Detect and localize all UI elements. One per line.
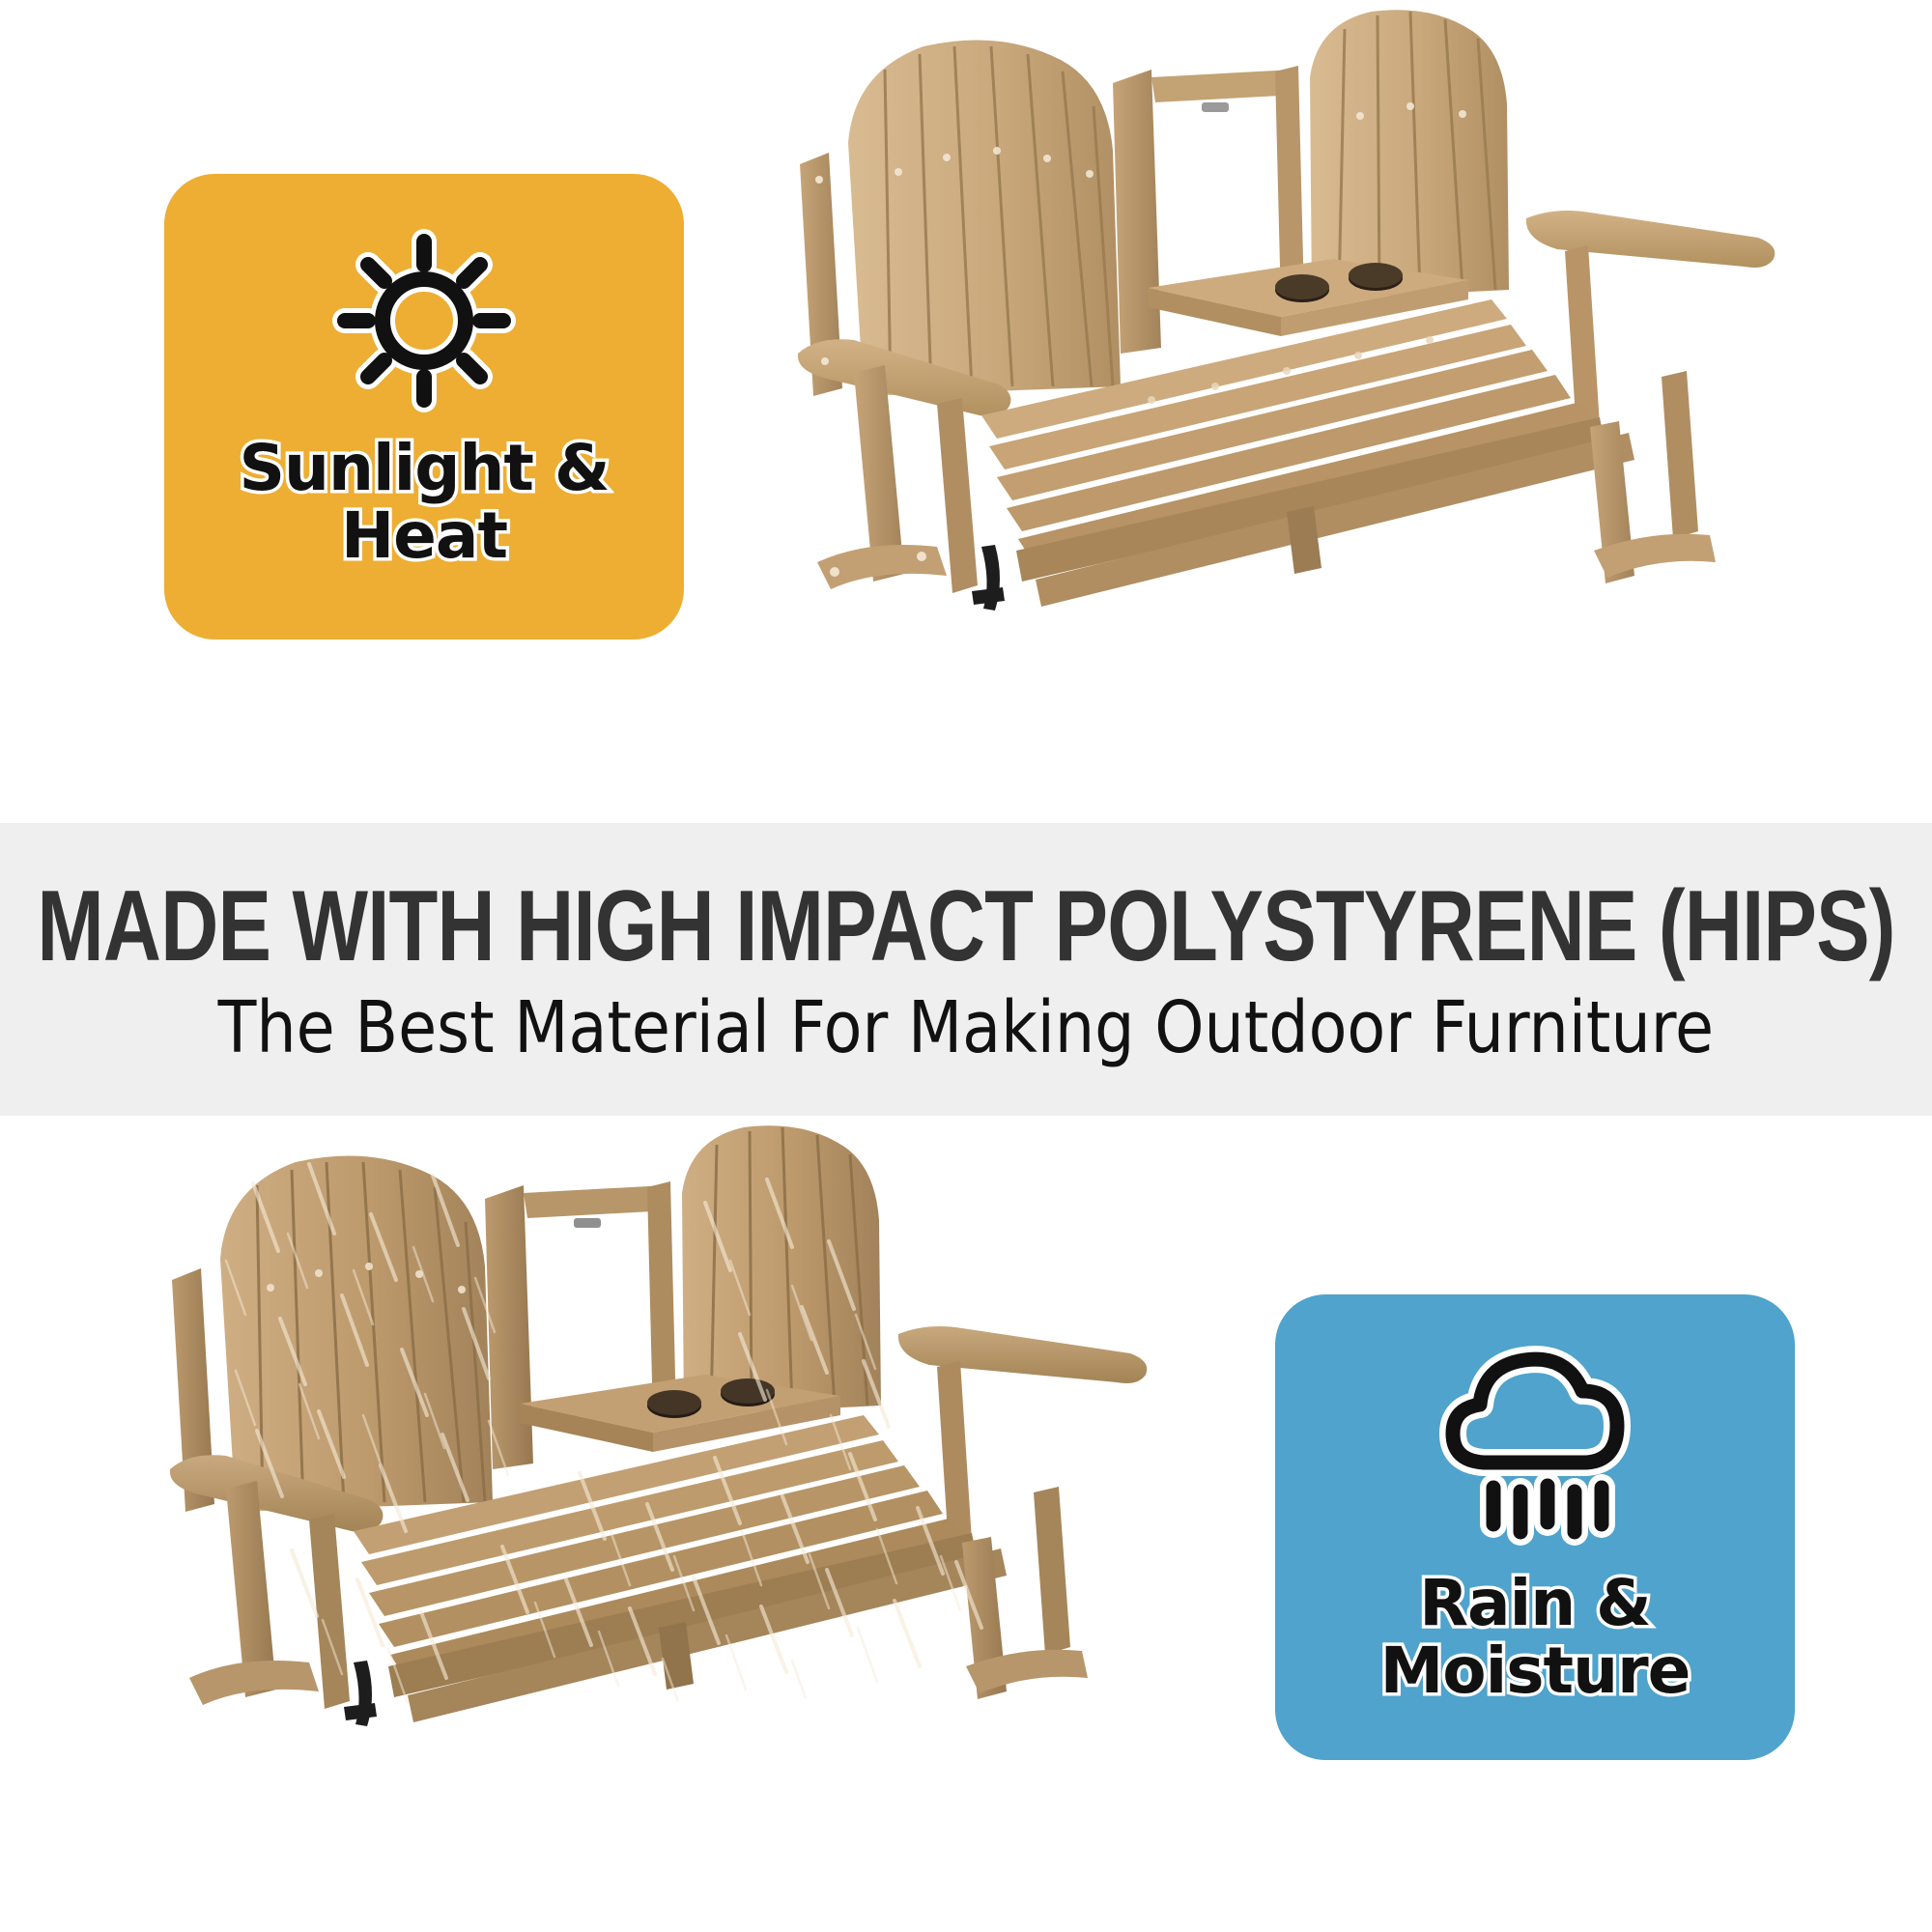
backrest-left	[848, 41, 1121, 396]
backrest-right	[682, 1125, 881, 1415]
product-image-glider-bench-dry	[792, 10, 1913, 628]
bottom-product-section: Rain & Moisture	[0, 1116, 1932, 1932]
top-product-section: Sunlight & Heat	[0, 0, 1932, 823]
armrest-right	[1526, 211, 1775, 268]
badge-rain-moisture-line2: Moisture	[1380, 1637, 1690, 1705]
backrest-right	[1310, 10, 1509, 299]
product-image-glider-bench-rain	[164, 1125, 1285, 1744]
badge-rain-moisture-line1: Rain &	[1419, 1566, 1651, 1640]
badge-rain-moisture-label: Rain & Moisture	[1380, 1570, 1690, 1705]
badge-rain-moisture: Rain & Moisture	[1275, 1294, 1795, 1760]
feature-banner: MADE WITH HIGH IMPACT POLYSTYRENE (HIPS)…	[0, 823, 1932, 1116]
badge-sunlight-heat-line1: Sunlight &	[239, 431, 609, 505]
glider-bench-rain-illustration	[164, 1125, 1285, 1744]
glider-base-right	[962, 1487, 1088, 1699]
banner-subtitle: The Best Material For Making Outdoor Fur…	[218, 992, 1715, 1064]
banner-headline: MADE WITH HIGH IMPACT POLYSTYRENE (HIPS)	[37, 876, 1894, 977]
glider-base-right	[1590, 371, 1716, 583]
glider-bench-illustration	[792, 10, 1913, 628]
badge-sunlight-heat-label: Sunlight & Heat	[239, 435, 609, 570]
badge-sunlight-heat-line2: Heat	[239, 502, 609, 570]
sun-icon	[313, 224, 535, 417]
rain-cloud-icon	[1424, 1345, 1646, 1552]
armrest-right	[898, 1326, 1147, 1383]
badge-sunlight-heat: Sunlight & Heat	[164, 174, 684, 639]
